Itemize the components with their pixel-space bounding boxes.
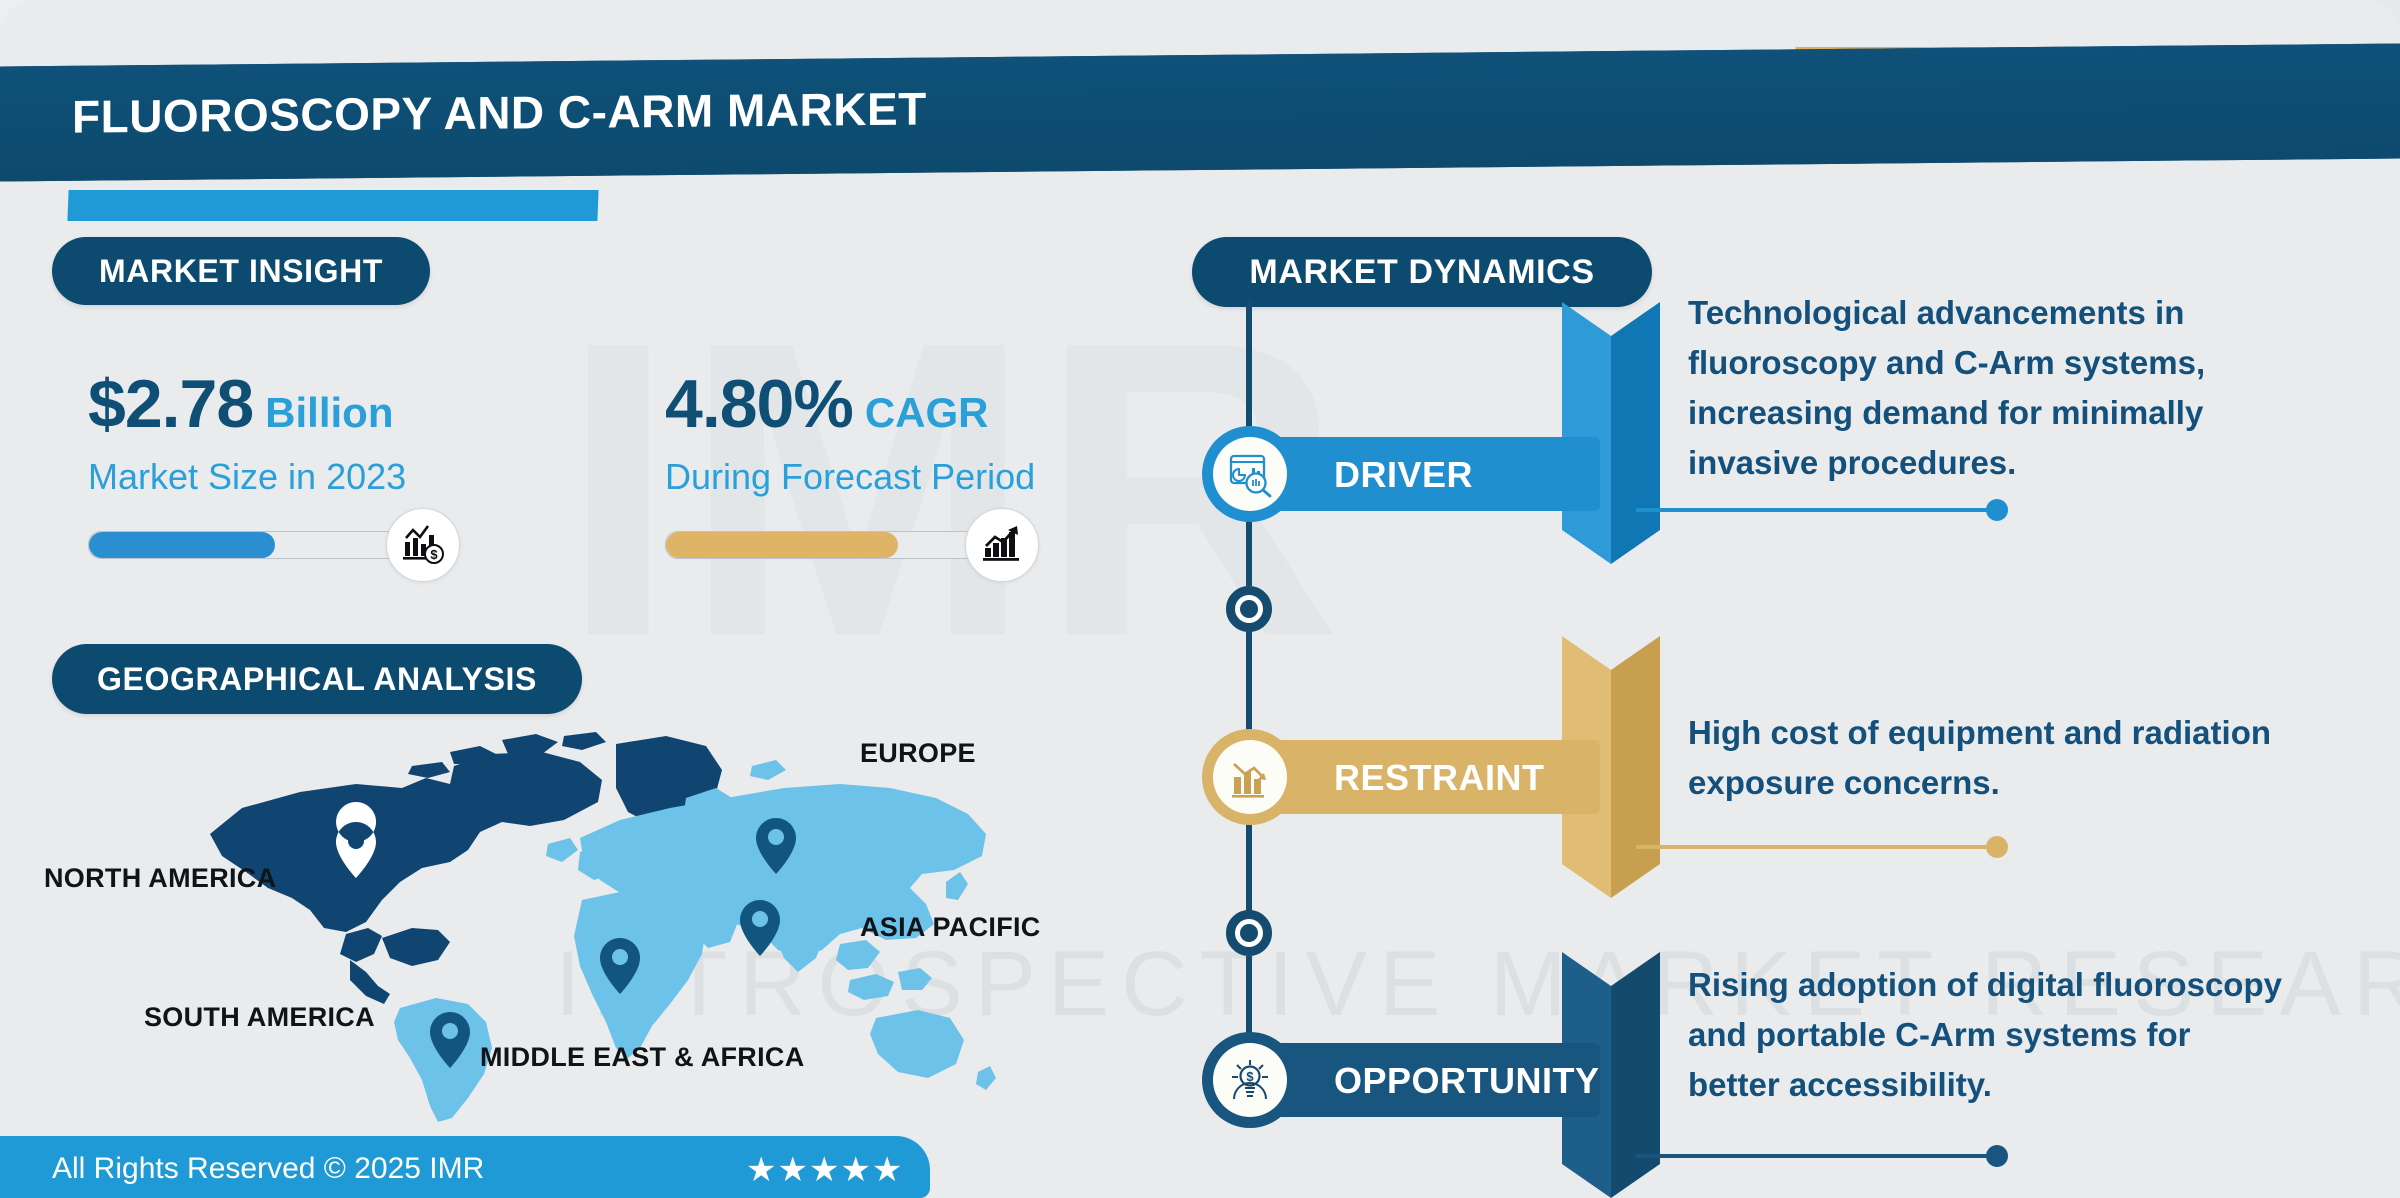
section-label-market-dynamics: MARKET DYNAMICS	[1192, 237, 1652, 307]
cagr-progress-fill	[666, 532, 898, 558]
svg-text:$: $	[1246, 1069, 1254, 1084]
stat-value: $2.78	[88, 370, 253, 438]
timeline-node-1	[1226, 586, 1272, 632]
infographic-root: IMR INTROSPECTIVE MARKET RESEARCH FLUORO…	[0, 0, 2400, 1198]
dashboard-analytics-magnifier-icon	[1213, 437, 1287, 511]
driver-description: Technological advancements in fluoroscop…	[1688, 288, 2288, 489]
bar-chart-dollar-icon: $	[386, 508, 460, 582]
restraint-stem-dot	[1986, 836, 2008, 858]
cagr-progress-track	[665, 531, 993, 559]
declining-bar-chart-icon	[1213, 740, 1287, 814]
growth-arrow-chart-icon	[965, 508, 1039, 582]
map-label-north-america: NORTH AMERICA	[44, 863, 276, 894]
footer-rating-stars: ★★★★★	[746, 1150, 903, 1190]
restraint-label: RESTRAINT	[1334, 757, 1545, 799]
svg-text:$: $	[430, 547, 438, 562]
map-label-asia-pacific: ASIA PACIFIC	[860, 912, 1041, 943]
opportunity-icon-badge: $	[1202, 1032, 1298, 1128]
driver-stem-dot	[1986, 499, 2008, 521]
footer-copyright: All Rights Reserved © 2025 IMR	[52, 1152, 484, 1186]
timeline-node-2	[1226, 910, 1272, 956]
opportunity-label: OPPORTUNITY	[1334, 1060, 1600, 1102]
opportunity-stem	[1636, 1154, 1996, 1158]
map-label-south-america: SOUTH AMERICA	[144, 1002, 375, 1033]
stat-caption: Market Size in 2023	[88, 456, 568, 498]
map-pin-asia-pacific	[740, 900, 780, 956]
map-label-middle-east-africa: MIDDLE EAST & AFRICA	[480, 1042, 805, 1073]
section-label-market-insight: MARKET INSIGHT	[52, 237, 430, 305]
stat-unit: CAGR	[865, 389, 989, 437]
restraint-icon-badge	[1202, 729, 1298, 825]
stat-cagr: 4.80%CAGR During Forecast Period	[665, 370, 1205, 498]
market-size-progress-fill	[89, 532, 275, 558]
timeline-segment-1	[1246, 300, 1252, 440]
stat-market-size: $2.78Billion Market Size in 2023	[88, 370, 568, 498]
header-blue-accent	[67, 190, 598, 221]
driver-label: DRIVER	[1334, 454, 1473, 496]
map-label-europe: EUROPE	[860, 738, 976, 769]
timeline-segment-4	[1246, 956, 1252, 1042]
section-label-geographical-analysis: GEOGRAPHICAL ANALYSIS	[52, 644, 582, 714]
opportunity-stem-dot	[1986, 1145, 2008, 1167]
stat-value: 4.80%	[665, 370, 853, 438]
market-size-progress-track	[88, 531, 416, 559]
opportunity-description: Rising adoption of digital fluoroscopy a…	[1688, 960, 2288, 1110]
lightbulb-dollar-icon: $	[1213, 1043, 1287, 1117]
restraint-stem	[1636, 845, 1996, 849]
driver-stem	[1636, 508, 1996, 512]
stat-unit: Billion	[265, 389, 393, 437]
driver-chevron-arrow	[1562, 302, 1660, 564]
restraint-description: High cost of equipment and radiation exp…	[1688, 708, 2288, 808]
stat-caption: During Forecast Period	[665, 456, 1205, 498]
driver-icon-badge	[1202, 426, 1298, 522]
